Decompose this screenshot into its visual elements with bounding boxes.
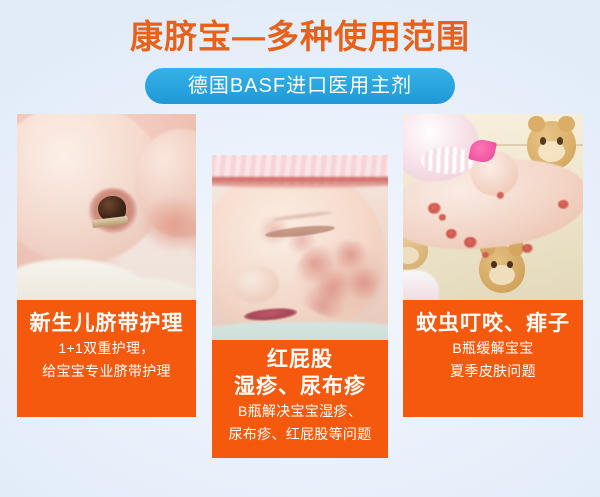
bed-sheet — [212, 322, 388, 341]
panel-subtitle-line-2: 给宝宝专业脐带护理 — [21, 360, 192, 383]
newborn-umbilical-cord-photo — [17, 114, 196, 300]
feature-panel-mosquito-bites[interactable]: 蚊虫叮咬、痱子 B瓶缓解宝宝 夏季皮肤问题 — [403, 114, 583, 417]
badge-basf-ingredient: 德国BASF进口医用主剂 — [145, 68, 455, 104]
hat-edge — [212, 177, 388, 188]
panel-subtitle-line-2: 尿布疹、红屁股等问题 — [216, 423, 384, 446]
panel-caption: 新生儿脐带护理 1+1双重护理， 给宝宝专业脐带护理 — [17, 300, 196, 417]
sleeping-baby-rash-face-photo — [212, 155, 388, 340]
bear-eye-left — [491, 261, 497, 268]
panel-title-line-2: 湿疹、尿布疹 — [216, 373, 384, 400]
bear-eye-right — [507, 261, 513, 268]
panel-title-line-1: 红屁股 — [216, 346, 384, 373]
panel-caption: 红屁股 湿疹、尿布疹 B瓶解决宝宝湿疹、 尿布疹、红屁股等问题 — [212, 340, 388, 458]
panel-subtitle-line-1: B瓶解决宝宝湿疹、 — [216, 400, 384, 423]
bear-eye-left — [540, 137, 546, 145]
sleeve-frill — [421, 147, 475, 173]
panel-title: 蚊虫叮咬、痱子 — [407, 310, 579, 337]
panel-subtitle-line-2: 夏季皮肤问题 — [407, 360, 579, 383]
panel-caption: 蚊虫叮咬、痱子 B瓶缓解宝宝 夏季皮肤问题 — [403, 300, 583, 417]
feature-panel-umbilical-care[interactable]: 新生儿脐带护理 1+1双重护理， 给宝宝专业脐带护理 — [17, 114, 196, 417]
panel-subtitle-line-1: B瓶缓解宝宝 — [407, 337, 579, 360]
mosquito-bite — [464, 237, 477, 248]
mosquito-bite — [446, 229, 457, 238]
mosquito-bite — [497, 192, 504, 199]
feature-panel-diaper-rash[interactable]: 红屁股 湿疹、尿布疹 B瓶解决宝宝湿疹、 尿布疹、红屁股等问题 — [212, 155, 388, 458]
product-poster: 康脐宝—多种使用范围 德国BASF进口医用主剂 新生儿脐带护理 1+1双重护理，… — [0, 0, 600, 497]
mosquito-bite — [558, 200, 569, 209]
cheek-rash — [293, 240, 388, 318]
panel-title: 新生儿脐带护理 — [21, 310, 192, 337]
panel-subtitle-line-1: 1+1双重护理， — [21, 337, 192, 360]
baby-arm-mosquito-bites-photo — [403, 114, 583, 300]
bear-face — [403, 247, 419, 264]
page-title: 康脐宝—多种使用范围 — [0, 14, 600, 60]
bear-eye-right — [557, 137, 563, 145]
skin-blush — [142, 196, 196, 252]
